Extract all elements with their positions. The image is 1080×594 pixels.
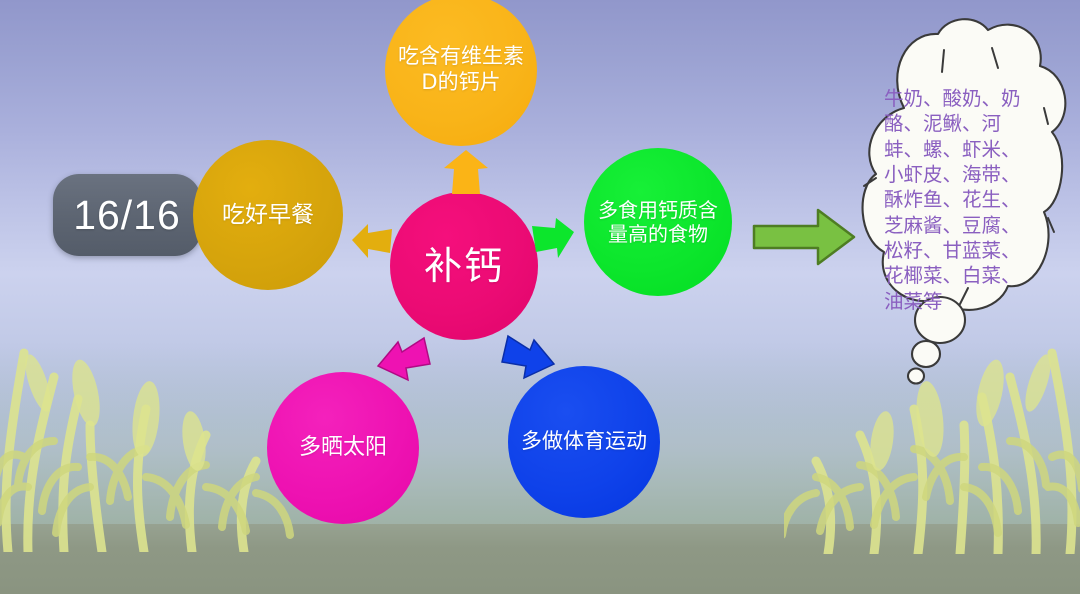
slide-canvas: 16/16 吃好早餐 吃含有维生素D的钙片 补钙 多食用钙质含量高的食物 多晒太…	[0, 0, 1080, 594]
node-bubble-center-calcium[interactable]: 补钙	[390, 192, 538, 340]
node-bubble-vitamin-d[interactable]: 吃含有维生素D的钙片	[385, 0, 537, 146]
node-label-center-calcium: 补钙	[400, 243, 528, 289]
arrow-to-vitamin-d-icon	[440, 148, 492, 196]
slide-number-badge: 16/16	[53, 174, 201, 256]
node-bubble-sunlight[interactable]: 多晒太阳	[267, 372, 419, 524]
food-list-text: 牛奶、酸奶、奶酪、泥鳅、河蚌、螺、虾米、小虾皮、海带、酥炸鱼、花生、芝麻酱、豆腐…	[884, 86, 1028, 314]
node-label-sunlight: 多晒太阳	[277, 435, 409, 462]
arrow-to-food-list-icon	[752, 206, 856, 268]
arrow-to-exercise-icon	[500, 330, 556, 382]
node-label-vitamin-d: 吃含有维生素D的钙片	[395, 44, 527, 95]
slide-number-label: 16/16	[73, 195, 181, 236]
arrow-to-calcium-food-icon	[528, 214, 578, 264]
node-label-calcium-rich-food: 多食用钙质含量高的食物	[594, 198, 722, 247]
background-ground	[0, 524, 1080, 594]
node-label-breakfast: 吃好早餐	[203, 201, 333, 229]
node-label-exercise: 多做体育运动	[518, 429, 650, 455]
node-bubble-calcium-rich-food[interactable]: 多食用钙质含量高的食物	[584, 148, 732, 296]
node-bubble-breakfast[interactable]: 吃好早餐	[193, 140, 343, 290]
node-bubble-exercise[interactable]: 多做体育运动	[508, 366, 660, 518]
arrow-to-sunlight-icon	[376, 332, 432, 384]
arrow-to-breakfast-icon	[348, 216, 396, 264]
